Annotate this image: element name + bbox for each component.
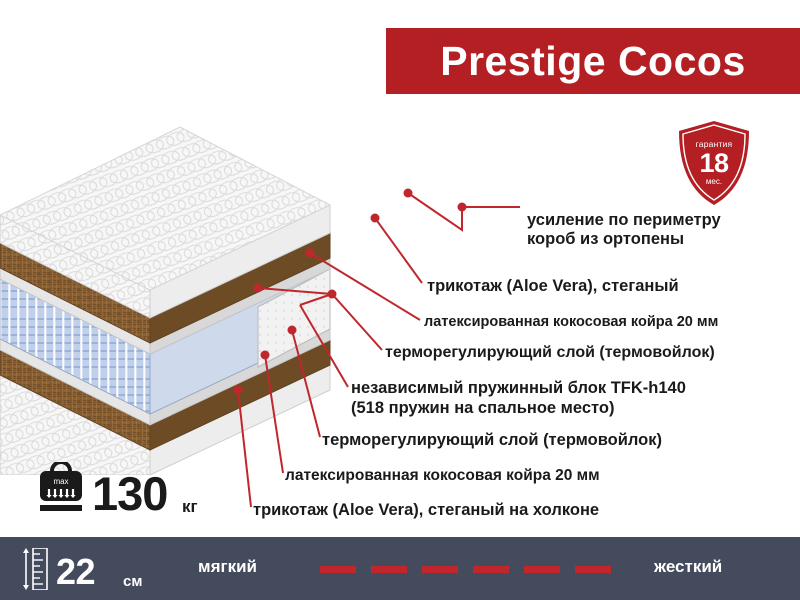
firmness-soft-label: мягкий [198,557,257,577]
callout-label-knit-bottom: трикотаж (Aloe Vera), стеганый на холкон… [253,501,599,520]
firmness-hard-label: жесткий [654,557,722,577]
firmness-mark [575,566,611,573]
height-unit: см [123,573,142,590]
callout-spring-line1: независимый пружинный блок TFK-h140 [351,378,686,398]
firmness-mark [371,566,407,573]
warranty-badge: гарантия 18 мес. [677,120,751,206]
warranty-text: гарантия 18 мес. [677,120,751,206]
warranty-unit: мес. [706,178,722,186]
callout-label-knit-top: трикотаж (Aloe Vera), стеганый [427,277,679,296]
callout-label-coir-top: латексированная кокосовая койра 20 мм [424,314,718,330]
callout-perimeter-line2: короб из ортопены [527,230,721,249]
callout-label-perimeter: усиление по периметру короб из ортопены [527,211,721,249]
height-ruler-icon [22,548,48,590]
callout-spring-line2: (518 пружин на спальное место) [351,398,686,418]
callout-label-thermo-bottom: терморегулирующий слой (термовойлок) [322,431,662,450]
product-infographic: Prestige Cocos гарантия 18 мес. [0,0,800,600]
max-weight-unit: кг [182,497,198,517]
callout-label-coir-bottom: латексированная кокосовая койра 20 мм [285,467,600,485]
height-value: 22 [56,551,95,593]
warranty-value: 18 [699,150,728,177]
svg-text:max: max [53,477,68,486]
firmness-mark [422,566,458,573]
firmness-mark [320,566,356,573]
max-weight-value: 130 [92,466,167,521]
callout-label-thermo-top: терморегулирующий слой (термовойлок) [385,344,715,362]
max-weight-icon: max [36,462,86,522]
firmness-mark [473,566,509,573]
firmness-scale [320,566,640,574]
callout-perimeter-line1: усиление по периметру [527,211,721,230]
firmness-mark [524,566,560,573]
callout-label-spring-block: независимый пружинный блок TFK-h140 (518… [351,378,686,418]
